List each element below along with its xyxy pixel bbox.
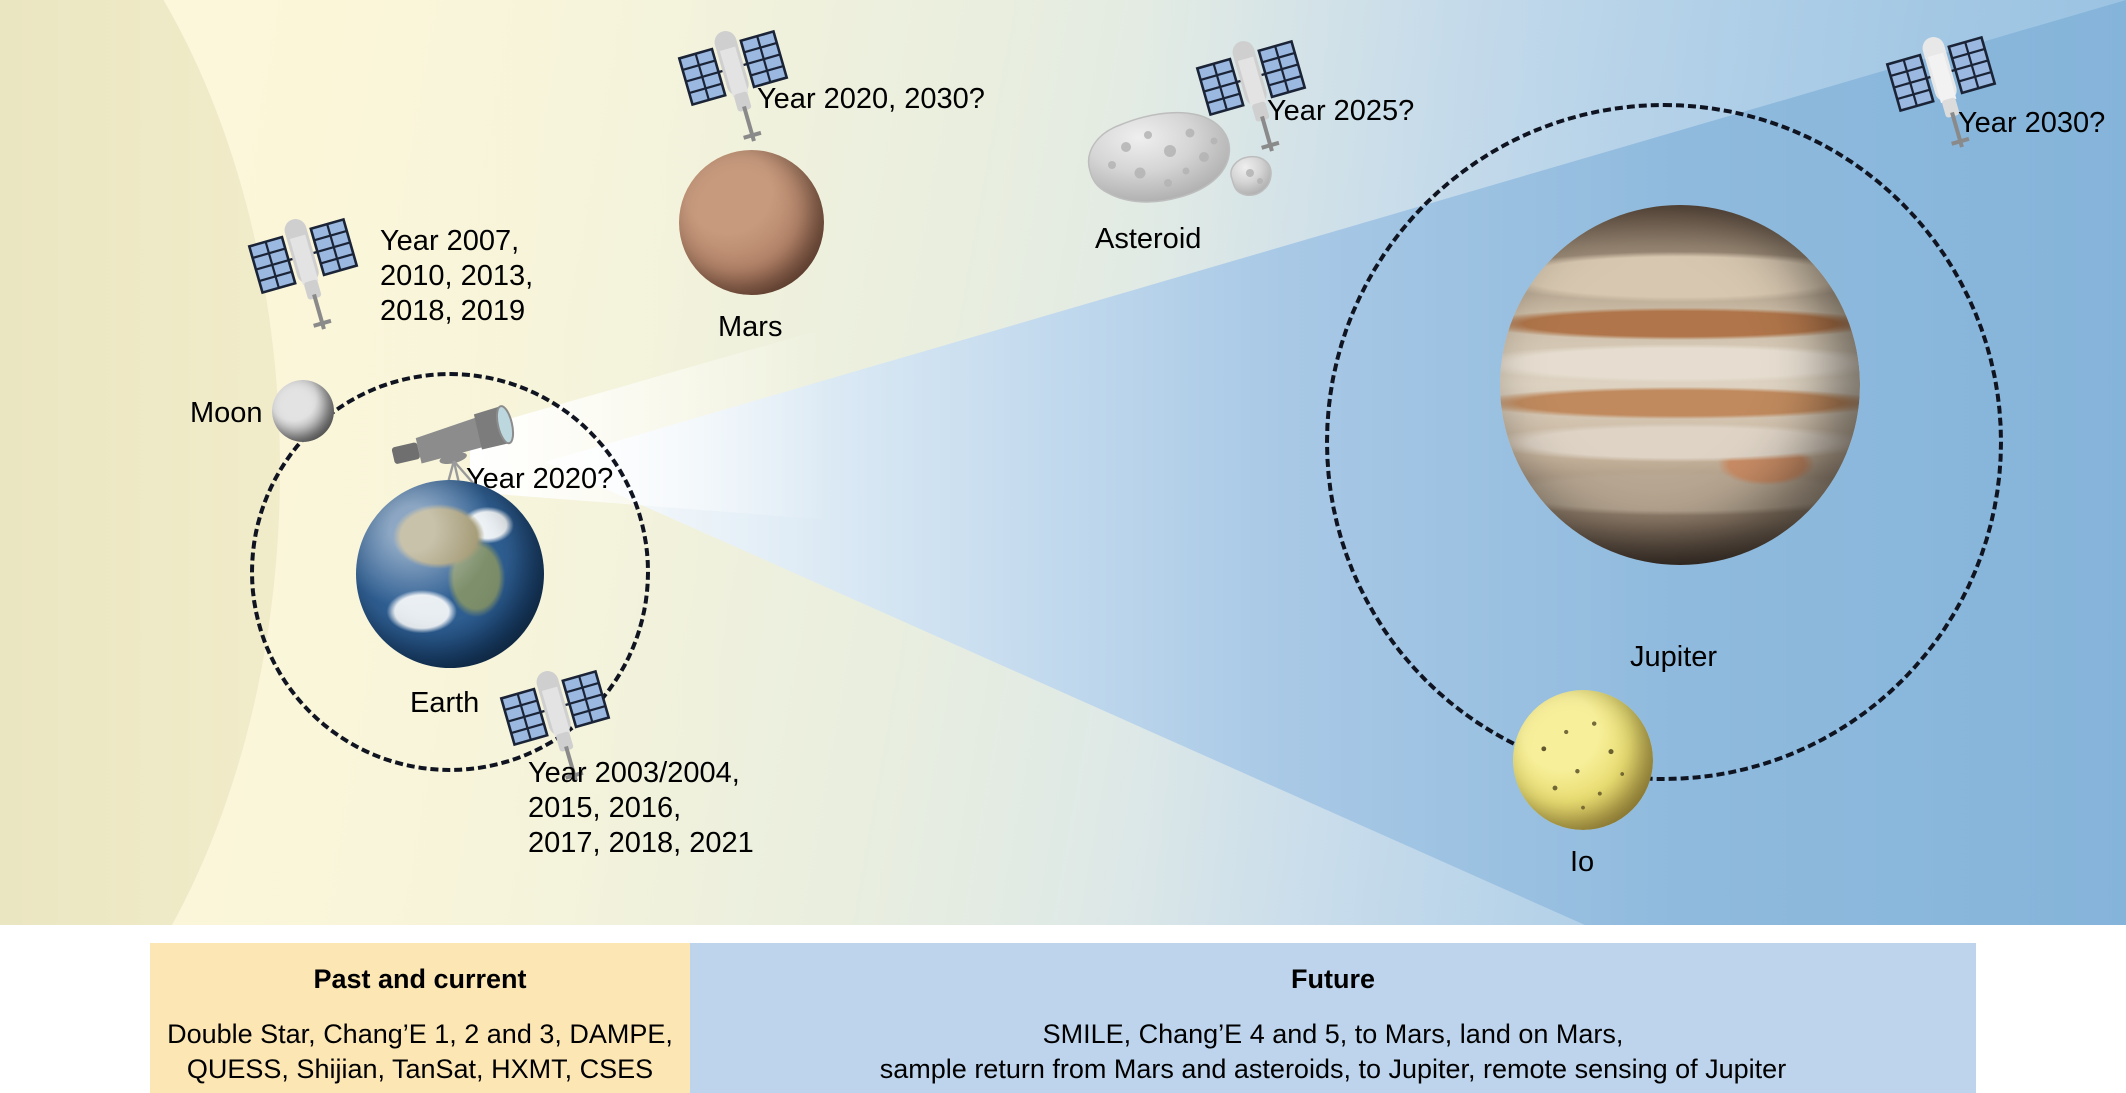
io-body bbox=[1513, 690, 1653, 830]
mars-label: Mars bbox=[718, 310, 782, 344]
earth-mission-years-label: Year 2003/2004, 2015, 2016, 2017, 2018, … bbox=[528, 756, 754, 860]
earth-body bbox=[356, 480, 544, 668]
legend-future: Future SMILE, Chang’E 4 and 5, to Mars, … bbox=[690, 943, 1976, 1093]
legend-future-body: SMILE, Chang’E 4 and 5, to Mars, land on… bbox=[690, 1017, 1976, 1087]
jupiter-label: Jupiter bbox=[1630, 640, 1717, 674]
legend-past-and-current: Past and current Double Star, Chang’E 1,… bbox=[150, 943, 690, 1093]
io-label: Io bbox=[1570, 845, 1594, 879]
jupiter-body bbox=[1500, 205, 1860, 565]
scene: Year 2007, 2010, 2013, 2018, 2019 Moon Y… bbox=[0, 0, 2126, 925]
moon-label: Moon bbox=[190, 396, 263, 430]
moon-satellite-icon bbox=[238, 196, 368, 346]
asteroid-label: Asteroid bbox=[1095, 222, 1201, 256]
legend-future-title: Future bbox=[690, 964, 1976, 995]
moon-body bbox=[272, 380, 334, 442]
jupiter-satellite-icon bbox=[1876, 14, 2006, 164]
asteroid-mission-years-label: Year 2025? bbox=[1267, 94, 1414, 129]
earth-label: Earth bbox=[410, 686, 479, 720]
mars-body bbox=[679, 150, 824, 295]
solar-system-mission-diagram: Year 2007, 2010, 2013, 2018, 2019 Moon Y… bbox=[0, 0, 2126, 1093]
moon-mission-years-label: Year 2007, 2010, 2013, 2018, 2019 bbox=[380, 224, 533, 328]
asteroid-satellite-icon bbox=[1186, 18, 1316, 168]
mars-mission-years-label: Year 2020, 2030? bbox=[757, 82, 985, 117]
legend: Past and current Double Star, Chang’E 1,… bbox=[0, 925, 2126, 1093]
io-surface-spots bbox=[1513, 690, 1653, 830]
jupiter-mission-years-label: Year 2030? bbox=[1958, 106, 2105, 141]
legend-past-body: Double Star, Chang’E 1, 2 and 3, DAMPE, … bbox=[150, 1017, 690, 1087]
legend-past-title: Past and current bbox=[150, 964, 690, 995]
